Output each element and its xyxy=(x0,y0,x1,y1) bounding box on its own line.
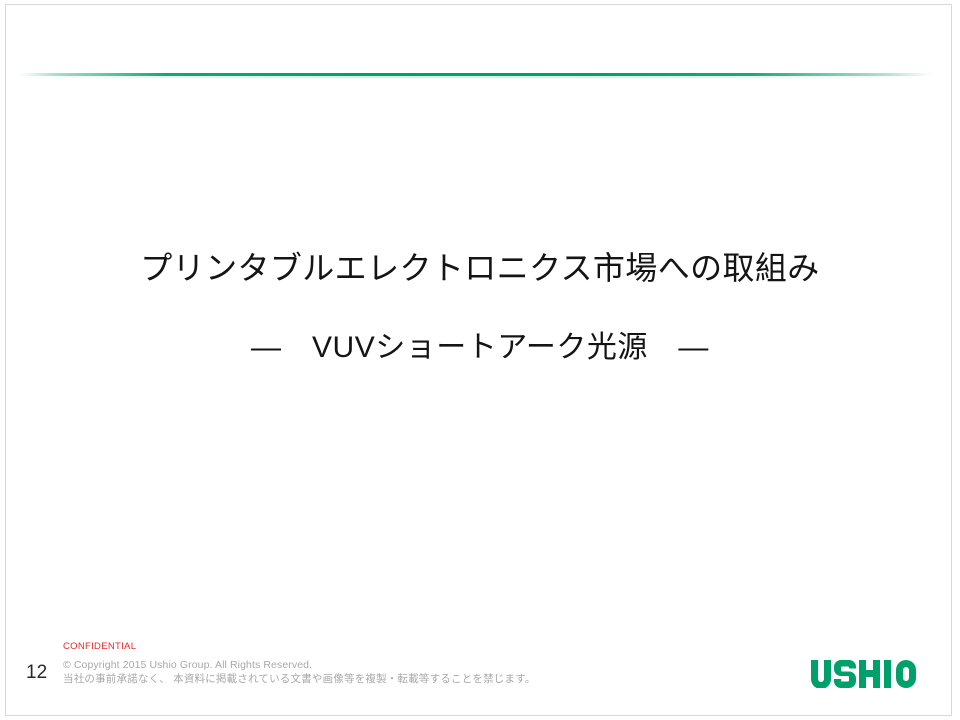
copyright-line-en: © Copyright 2015 Ushio Group. All Rights… xyxy=(63,658,536,672)
slide-footer: 12 CONFIDENTIAL © Copyright 2015 Ushio G… xyxy=(0,640,960,720)
page-title: プリンタブルエレクトロニクス市場への取組み xyxy=(0,244,960,292)
ushio-logo xyxy=(811,660,927,688)
copyright-line-ja: 当社の事前承諾なく、 本資料に掲載されている文書や画像等を複製・転載等することを… xyxy=(63,672,536,686)
copyright-block: © Copyright 2015 Ushio Group. All Rights… xyxy=(63,658,536,686)
confidential-badge: CONFIDENTIAL xyxy=(63,641,136,653)
top-rule-shadow xyxy=(20,76,932,78)
page-subtitle: ― VUVショートアーク光源 ― xyxy=(0,326,960,370)
title-block: プリンタブルエレクトロニクス市場への取組み ― VUVショートアーク光源 ― xyxy=(0,244,960,370)
slide-canvas: プリンタブルエレクトロニクス市場への取組み ― VUVショートアーク光源 ― 1… xyxy=(0,0,960,720)
page-number: 12 xyxy=(26,662,47,684)
